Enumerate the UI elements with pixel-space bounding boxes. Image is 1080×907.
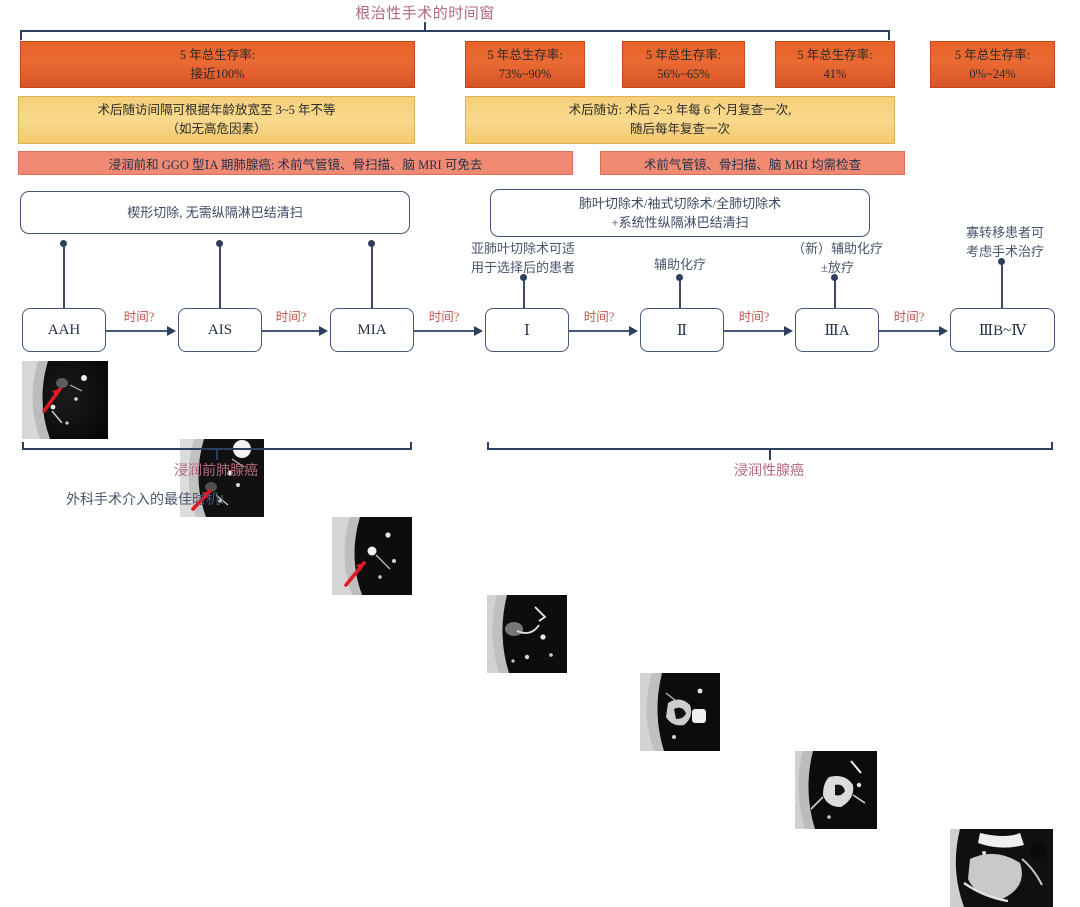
diagram-canvas: 根治性手术的时间窗 5 年总生存率: 接近100% 5 年总生存率: 73%~9… <box>0 0 1080 516</box>
survival-box-stage-iiia: 5 年总生存率: 41% <box>775 41 895 88</box>
ct-scan-graphic <box>22 361 108 439</box>
stage-node-ais[interactable]: AIS <box>178 308 262 352</box>
survival-value: 73%~90% <box>499 65 552 83</box>
workup-box-invasive: 术前气管镜、骨扫描、脑 MRI 均需检查 <box>600 151 905 175</box>
arrow-line-i-ii <box>569 330 630 332</box>
annotation-line-1: 辅助化疗 <box>610 256 750 275</box>
annotation-sublobar-resection: 亚肺叶切除术可适 用于选择后的患者 <box>443 240 603 278</box>
followup-line-1: 术后随访间隔可根据年龄放宽至 3~5 年不等 <box>97 101 335 120</box>
leader-line-aah <box>63 246 65 310</box>
curative-window-bracket <box>20 30 890 40</box>
annotation-line-1: 寡转移患者可 <box>930 224 1080 243</box>
survival-box-stage-ii: 5 年总生存率: 56%~65% <box>622 41 745 88</box>
followup-line-2: （如无高危因素） <box>166 120 266 139</box>
followup-box-preinvasive: 术后随访间隔可根据年龄放宽至 3~5 年不等 （如无高危因素） <box>18 96 415 144</box>
ct-image-stage-i <box>487 595 567 673</box>
arrow-line-ais-mia <box>262 330 320 332</box>
ct-scan-graphic <box>332 517 412 595</box>
stage-node-iiib-iv[interactable]: ⅢB~Ⅳ <box>950 308 1055 352</box>
arrow-line-mia-i <box>414 330 475 332</box>
survival-label: 5 年总生存率: <box>180 46 255 64</box>
arrow-label-ii-iiia: 时间? <box>723 306 785 325</box>
ct-scan-graphic <box>795 751 877 829</box>
arrow-label-aah-ais: 时间? <box>108 306 170 325</box>
stage-node-aah[interactable]: AAH <box>22 308 106 352</box>
arrow-head-iiia-iiib-iv <box>939 326 948 336</box>
arrow-head-aah-ais <box>167 326 176 336</box>
survival-value: 56%~65% <box>657 65 710 83</box>
leader-line-stage-iiib-iv <box>1001 264 1003 310</box>
survival-value: 接近100% <box>190 65 244 83</box>
surgery-line-1: 楔形切除, 无需纵隔淋巴结清扫 <box>127 203 303 223</box>
leader-line-stage-iiia <box>834 280 836 310</box>
invasive-group-bracket <box>487 442 1053 450</box>
annotation-adjuvant-chemo: 辅助化疗 <box>610 256 750 275</box>
surgery-box-lobectomy: 肺叶切除术/袖式切除术/全肺切除术 +系统性纵隔淋巴结清扫 <box>490 189 870 237</box>
arrow-line-aah-ais <box>106 330 168 332</box>
ct-image-stage-iiia <box>795 751 877 829</box>
stage-node-ii[interactable]: Ⅱ <box>640 308 724 352</box>
group-label-invasive: 浸润性腺癌 <box>689 460 849 480</box>
ct-image-stage-ii <box>640 673 720 751</box>
survival-label: 5 年总生存率: <box>955 46 1030 64</box>
arrow-label-i-ii: 时间? <box>568 306 630 325</box>
arrow-head-ais-mia <box>319 326 328 336</box>
survival-box-stage-i: 5 年总生存率: 73%~90% <box>465 41 585 88</box>
survival-label: 5 年总生存率: <box>487 46 562 64</box>
ct-scan-graphic <box>487 595 567 673</box>
ct-image-mia <box>332 517 412 595</box>
workup-box-preinvasive: 浸润前和 GGO 型ⅠA 期肺腺癌: 术前气管镜、骨扫描、脑 MRI 可免去 <box>18 151 573 175</box>
surgery-line-2: +系统性纵隔淋巴结清扫 <box>611 213 748 233</box>
surgery-box-wedge-resection: 楔形切除, 无需纵隔淋巴结清扫 <box>20 191 410 234</box>
annotation-line-1: 亚肺叶切除术可适 <box>443 240 603 259</box>
followup-box-invasive: 术后随访: 术后 2~3 年每 6 个月复查一次, 随后每年复查一次 <box>465 96 895 144</box>
arrow-line-iiia-iiib-iv <box>879 330 940 332</box>
invasive-group-stem <box>769 450 771 460</box>
preinvasive-group-bracket <box>22 442 412 450</box>
curative-window-bracket-stem <box>424 22 426 32</box>
ct-scan-graphic <box>950 829 1053 907</box>
ct-image-stage-iiib-iv <box>950 829 1053 907</box>
leader-line-mia <box>371 246 373 310</box>
leader-line-ais <box>219 246 221 310</box>
group-label-preinvasive: 浸润前肺腺癌 <box>136 460 296 480</box>
leader-line-stage-i <box>523 280 525 310</box>
closing-note: 外科手术介入的最佳时机! <box>66 489 225 509</box>
arrow-head-ii-iiia <box>784 326 793 336</box>
leader-line-stage-ii <box>679 280 681 310</box>
preinvasive-group-stem <box>216 450 218 460</box>
survival-value: 0%~24% <box>969 65 1015 83</box>
stage-node-mia[interactable]: MIA <box>330 308 414 352</box>
survival-label: 5 年总生存率: <box>646 46 721 64</box>
arrow-head-mia-i <box>474 326 483 336</box>
survival-value: 41% <box>824 65 847 83</box>
arrow-head-i-ii <box>629 326 638 336</box>
page-title: 根治性手术的时间窗 <box>275 2 575 23</box>
arrow-label-mia-i: 时间? <box>413 306 475 325</box>
followup-line-1: 术后随访: 术后 2~3 年每 6 个月复查一次, <box>569 101 792 120</box>
survival-box-stage-iiib-iv: 5 年总生存率: 0%~24% <box>930 41 1055 88</box>
annotation-oligometastatic-surgery: 寡转移患者可 考虑手术治疗 <box>930 224 1080 262</box>
annotation-line-2: 考虑手术治疗 <box>930 243 1080 262</box>
annotation-line-1: （新）辅助化疗 <box>765 240 910 259</box>
arrow-label-ais-mia: 时间? <box>260 306 322 325</box>
stage-node-iiia[interactable]: ⅢA <box>795 308 879 352</box>
annotation-neoadjuvant-chemoradio: （新）辅助化疗 ±放疗 <box>765 240 910 278</box>
ct-image-aah <box>22 361 108 439</box>
survival-label: 5 年总生存率: <box>797 46 872 64</box>
arrow-label-iiia-iiib-iv: 时间? <box>878 306 940 325</box>
ct-scan-graphic <box>640 673 720 751</box>
followup-line-2: 随后每年复查一次 <box>630 120 730 139</box>
stage-node-i[interactable]: Ⅰ <box>485 308 569 352</box>
arrow-line-ii-iiia <box>724 330 785 332</box>
survival-box-aah-mia: 5 年总生存率: 接近100% <box>20 41 415 88</box>
surgery-line-1: 肺叶切除术/袖式切除术/全肺切除术 <box>579 194 781 214</box>
